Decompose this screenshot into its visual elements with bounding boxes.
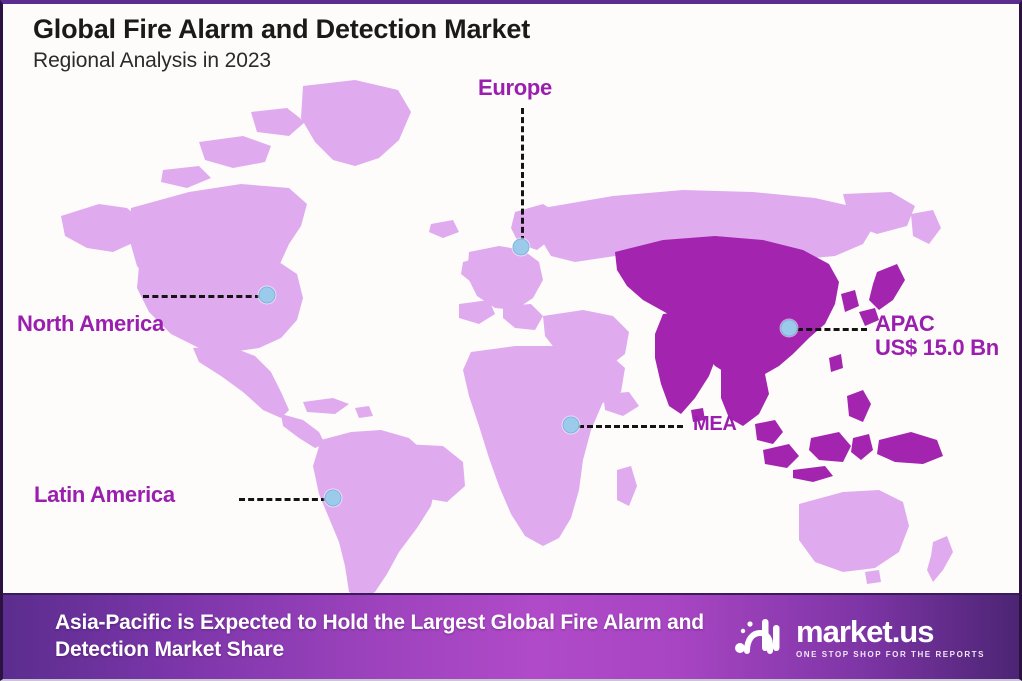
leader-line-apac [797,328,867,331]
bottom-banner: Asia-Pacific is Expected to Hold the Lar… [3,593,1022,679]
region-europe-west [467,246,543,310]
map-marker-latin-america[interactable] [325,490,342,507]
region-apac-borneo [809,432,851,462]
region-madagascar [617,466,637,506]
region-iberia [459,300,495,324]
region-tasmania [865,570,881,584]
map-marker-apac[interactable] [781,320,798,337]
region-apac-india [655,310,719,414]
region-label-mea[interactable]: MEA [693,413,737,435]
region-apac-malaysia [755,420,783,444]
region-caribbean-small [355,406,373,418]
region-caribbean [303,398,349,414]
region-label-apac[interactable]: APAC US$ 15.0 Bn [875,312,999,360]
region-name-latin-america: Latin America [34,483,175,507]
region-new-zealand [927,536,953,582]
map-marker-north-america[interactable] [259,287,276,304]
market-us-logo-icon [733,615,785,659]
leader-line-europe [521,108,524,242]
leader-line-north-america [143,295,261,298]
region-mexico [193,346,289,418]
region-usa [137,258,303,352]
page-title: Global Fire Alarm and Detection Market [33,14,1022,45]
region-apac-mainland [615,236,839,378]
page-subtitle: Regional Analysis in 2023 [33,49,1022,73]
region-apac-taiwan [829,354,843,372]
map-base-regions [61,80,953,596]
region-name-mea: MEA [693,413,737,435]
region-apac-sulawesi [851,434,873,460]
region-iceland [429,220,459,238]
region-apac-japan [869,264,905,310]
leader-line-mea [578,425,683,428]
region-arctic-islands-c [161,166,211,188]
brand-name: market.us [796,616,985,647]
region-label-europe[interactable]: Europe [478,76,552,100]
region-name-europe: Europe [478,76,552,100]
header: Global Fire Alarm and Detection Market R… [3,4,1022,73]
infographic-root: Global Fire Alarm and Detection Market R… [0,0,1022,681]
banner-headline: Asia-Pacific is Expected to Hold the Lar… [55,610,733,664]
region-label-north-america[interactable]: North America [17,312,164,336]
region-name-apac: APAC [875,312,999,336]
region-apac-korea [841,290,859,312]
brand-text-block: market.us ONE STOP SHOP FOR THE REPORTS [796,616,985,659]
region-kamchatka [911,210,941,244]
region-apac-java [793,466,833,482]
region-apac-papua [877,432,943,464]
region-arctic-islands-a [199,136,271,168]
region-label-latin-america[interactable]: Latin America [34,483,175,507]
map-marker-europe[interactable] [513,239,530,256]
region-greenland [301,80,411,166]
brand-tagline: ONE STOP SHOP FOR THE REPORTS [796,650,985,659]
region-africa [463,346,609,546]
region-apac-sumatra [763,444,799,468]
region-arctic-islands-b [251,108,305,136]
region-africa-horn [603,392,639,416]
brand-logo[interactable]: market.us ONE STOP SHOP FOR THE REPORTS [733,615,1003,659]
region-italy-balkans [503,304,543,330]
region-name-north-america: North America [17,312,164,336]
leader-line-latin-america [239,498,327,501]
region-centralamerica [281,414,325,448]
map-marker-mea[interactable] [563,417,580,434]
region-value-apac: US$ 15.0 Bn [875,336,999,360]
region-australia [799,490,909,572]
region-apac-philippines [847,390,871,422]
